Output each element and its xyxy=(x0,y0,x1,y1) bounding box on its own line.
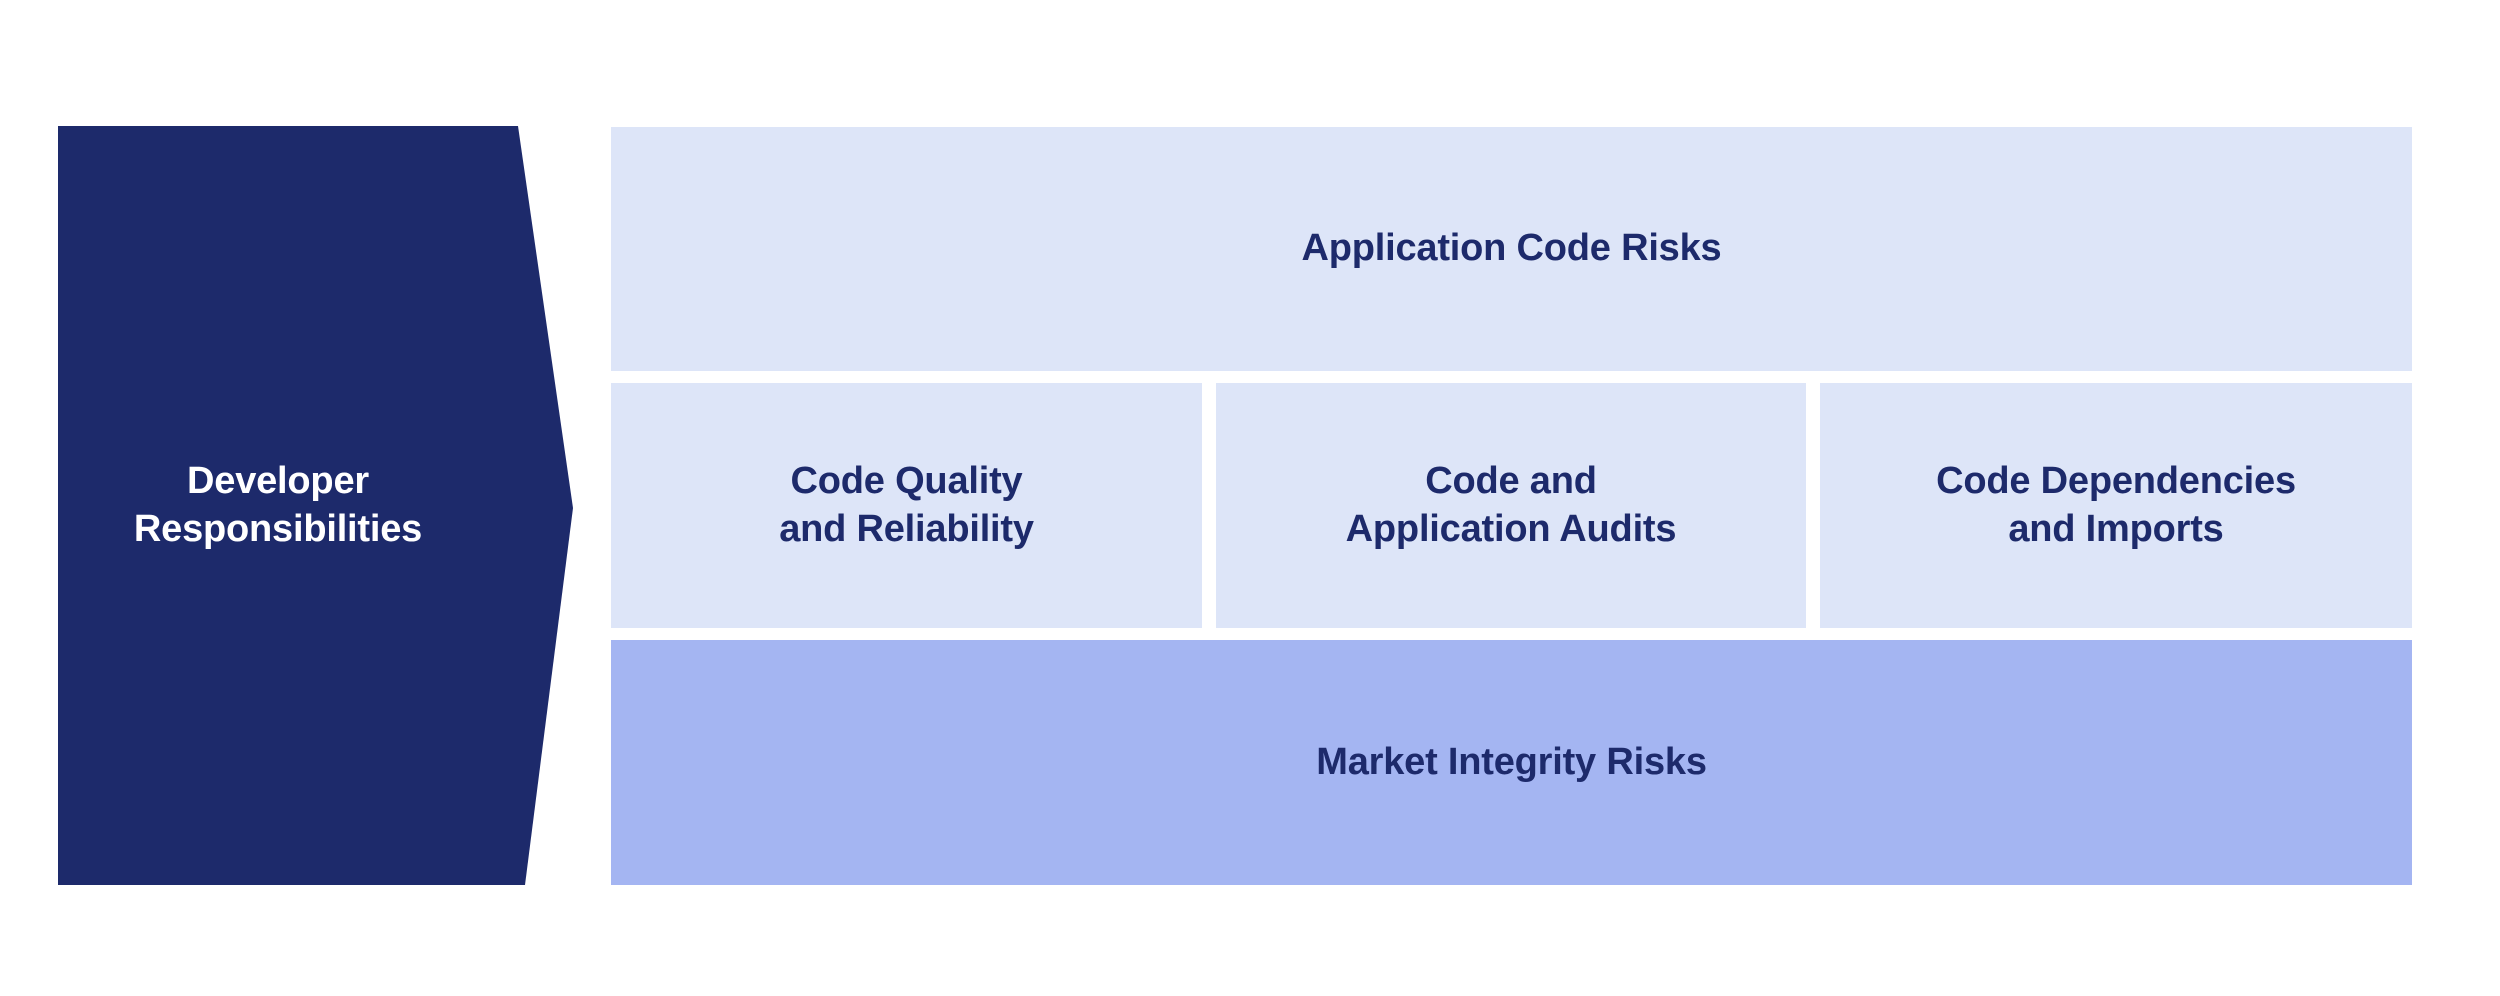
code-quality-line-1: Code Quality xyxy=(779,458,1034,506)
chevron-right-icon xyxy=(0,0,620,996)
code-dependencies-and-imports-box: Code Dependencies and Imports xyxy=(1820,383,2412,628)
code-quality-and-reliability-box: Code Quality and Reliability xyxy=(611,383,1202,628)
code-quality-line-2: and Reliability xyxy=(779,506,1034,554)
code-dependencies-line-1: Code Dependencies xyxy=(1936,458,2296,506)
code-audits-line-1: Code and xyxy=(1346,458,1677,506)
developer-responsibilities-panel: Developer Responsibilities xyxy=(0,0,620,996)
application-code-risks-box: Application Code Risks xyxy=(611,127,2412,371)
code-audits-line-2: Application Audits xyxy=(1346,506,1677,554)
application-code-risks-label: Application Code Risks xyxy=(1301,225,1721,273)
market-integrity-risks-box: Market Integrity Risks xyxy=(611,640,2412,885)
code-dependencies-line-2: and Imports xyxy=(1936,506,2296,554)
code-and-application-audits-box: Code and Application Audits xyxy=(1216,383,1806,628)
diagram-canvas: Developer Responsibilities Application C… xyxy=(0,0,2500,996)
market-integrity-risks-label: Market Integrity Risks xyxy=(1316,739,1707,787)
